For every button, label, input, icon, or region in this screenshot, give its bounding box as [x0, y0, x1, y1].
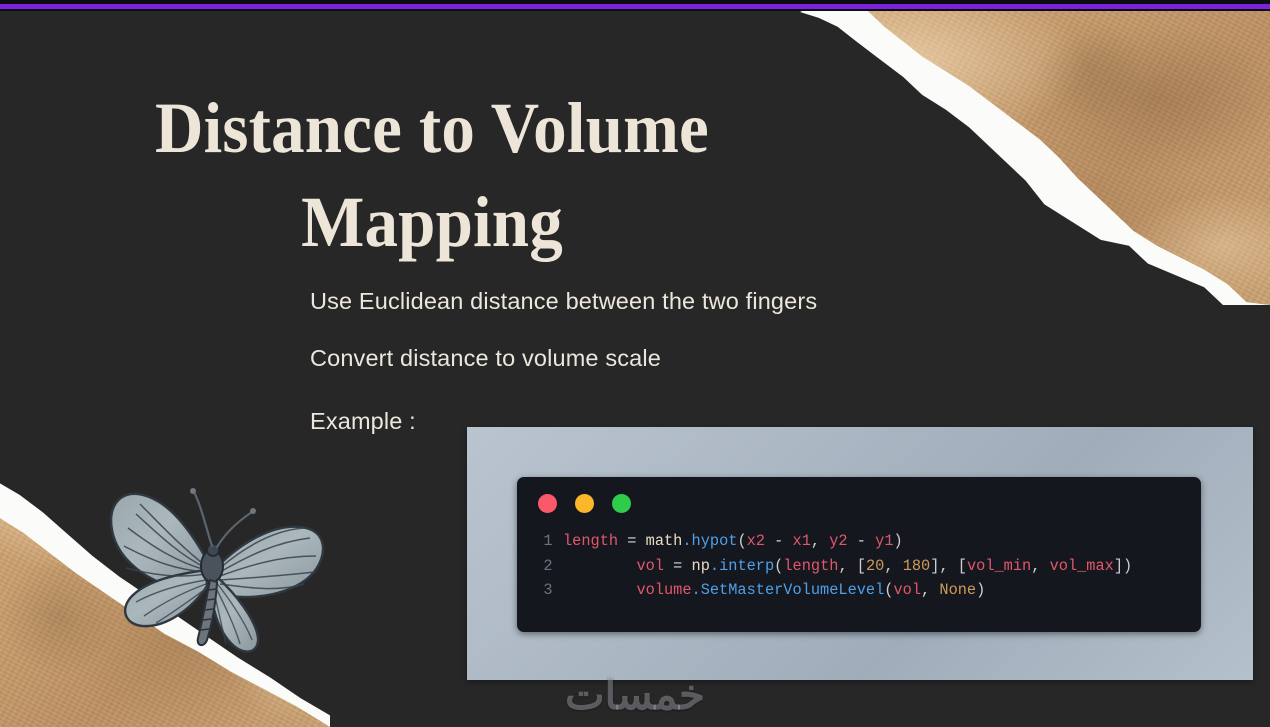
code-token: .hypot [682, 532, 737, 550]
example-label: Example : [310, 408, 416, 435]
butterfly-icon [60, 470, 360, 660]
code-line-text: length = math.hypot(x2 - x1, y2 - y1) [563, 529, 903, 554]
code-line-number: 1 [533, 529, 563, 554]
maximize-dot-icon[interactable] [612, 494, 631, 513]
code-token: ], [ [930, 557, 967, 575]
code-token: ( [774, 557, 783, 575]
torn-edge-white-top-right [800, 9, 1270, 305]
code-token: .SetMasterVolumeLevel [692, 581, 885, 599]
code-line-number: 3 [533, 578, 563, 603]
code-token: vol [893, 581, 921, 599]
code-line-text: volume.SetMasterVolumeLevel(vol, None) [563, 578, 985, 603]
code-token: , [811, 532, 829, 550]
code-card: 1length = math.hypot(x2 - x1, y2 - y1)2 … [467, 427, 1253, 680]
code-token: None [939, 581, 976, 599]
code-line: 3 volume.SetMasterVolumeLevel(vol, None) [533, 578, 1195, 603]
code-token: , [1031, 557, 1049, 575]
code-token: length [563, 532, 618, 550]
code-token: 180 [903, 557, 931, 575]
code-token: np [692, 557, 710, 575]
code-token: vol_max [1050, 557, 1114, 575]
code-token: vol_min [967, 557, 1031, 575]
slide-title: Distance to Volume Mapping [79, 82, 786, 269]
code-token [563, 581, 636, 599]
bullet-item-2: Convert distance to volume scale [310, 345, 817, 372]
bullet-list: Use Euclidean distance between the two f… [310, 288, 817, 402]
code-token: , [921, 581, 939, 599]
code-block: 1length = math.hypot(x2 - x1, y2 - y1)2 … [533, 529, 1195, 603]
code-token: - [848, 532, 876, 550]
code-token: volume [636, 581, 691, 599]
code-token: length [783, 557, 838, 575]
code-token [618, 532, 627, 550]
code-token: vol [636, 557, 664, 575]
code-token: ]) [1114, 557, 1132, 575]
code-token: = [673, 557, 682, 575]
code-token: x2 [747, 532, 765, 550]
code-line-text: vol = np.interp(length, [20, 180], [vol_… [563, 554, 1132, 579]
code-token: y1 [875, 532, 893, 550]
code-token: ) [976, 581, 985, 599]
code-token: ) [894, 532, 903, 550]
code-token: math [646, 532, 683, 550]
torn-paper-bottom-left [0, 437, 330, 727]
code-token: , [884, 557, 902, 575]
code-token [636, 532, 645, 550]
minimize-dot-icon[interactable] [575, 494, 594, 513]
code-token: x1 [793, 532, 811, 550]
kraft-paper-bottom-left [0, 437, 330, 727]
code-token: , [ [838, 557, 866, 575]
code-token [664, 557, 673, 575]
code-line-number: 2 [533, 554, 563, 579]
window-controls [538, 494, 631, 513]
accent-bar [0, 4, 1270, 9]
code-token [563, 557, 636, 575]
code-token: ( [737, 532, 746, 550]
slide-canvas: Distance to Volume Mapping Use Euclidean… [0, 0, 1270, 727]
code-line: 1length = math.hypot(x2 - x1, y2 - y1) [533, 529, 1195, 554]
code-token: .interp [710, 557, 774, 575]
torn-edge-white-bottom-left [0, 437, 330, 727]
torn-paper-top-right [800, 9, 1270, 305]
code-token: - [765, 532, 793, 550]
terminal-window: 1length = math.hypot(x2 - x1, y2 - y1)2 … [517, 477, 1201, 632]
kraft-paper-top-right [800, 9, 1270, 305]
code-token: 20 [866, 557, 884, 575]
code-line: 2 vol = np.interp(length, [20, 180], [vo… [533, 554, 1195, 579]
close-dot-icon[interactable] [538, 494, 557, 513]
code-token [682, 557, 691, 575]
bullet-item-1: Use Euclidean distance between the two f… [310, 288, 817, 315]
code-token: y2 [829, 532, 847, 550]
